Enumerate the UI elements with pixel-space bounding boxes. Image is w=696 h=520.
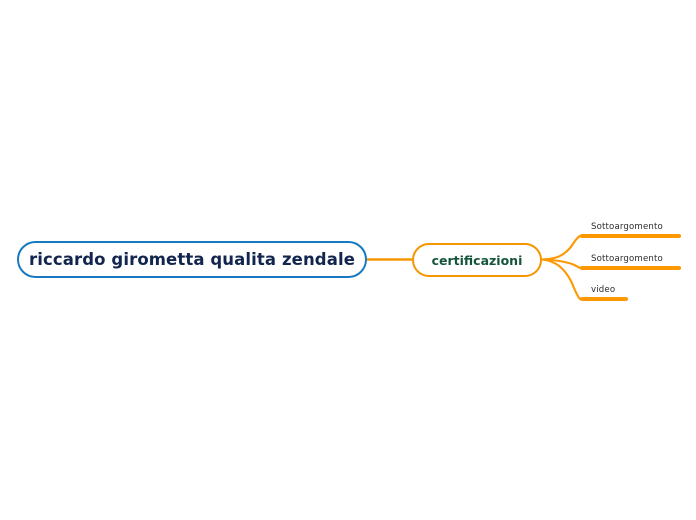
leaf-node-label: Sottoargomento (591, 222, 663, 232)
leaf-node-label: video (591, 285, 615, 295)
leaf-node-underline-bar (580, 234, 681, 238)
branch-node-certificazioni[interactable]: certificazioni (412, 243, 542, 277)
mindmap-canvas[interactable]: riccardo girometta qualita zendale certi… (0, 0, 696, 520)
leaf-node-label: Sottoargomento (591, 254, 663, 264)
branch-node-label: certificazioni (432, 253, 523, 268)
connector-certificazioni-to-leaf-1 (542, 236, 580, 260)
connector-certificazioni-to-leaf-2 (542, 260, 580, 269)
leaf-node-underline-bar (580, 297, 628, 301)
root-node-label: riccardo girometta qualita zendale (29, 250, 355, 269)
leaf-node-underline-bar (580, 266, 681, 270)
connector-certificazioni-to-leaf-3 (542, 260, 580, 300)
root-node[interactable]: riccardo girometta qualita zendale (17, 241, 367, 278)
